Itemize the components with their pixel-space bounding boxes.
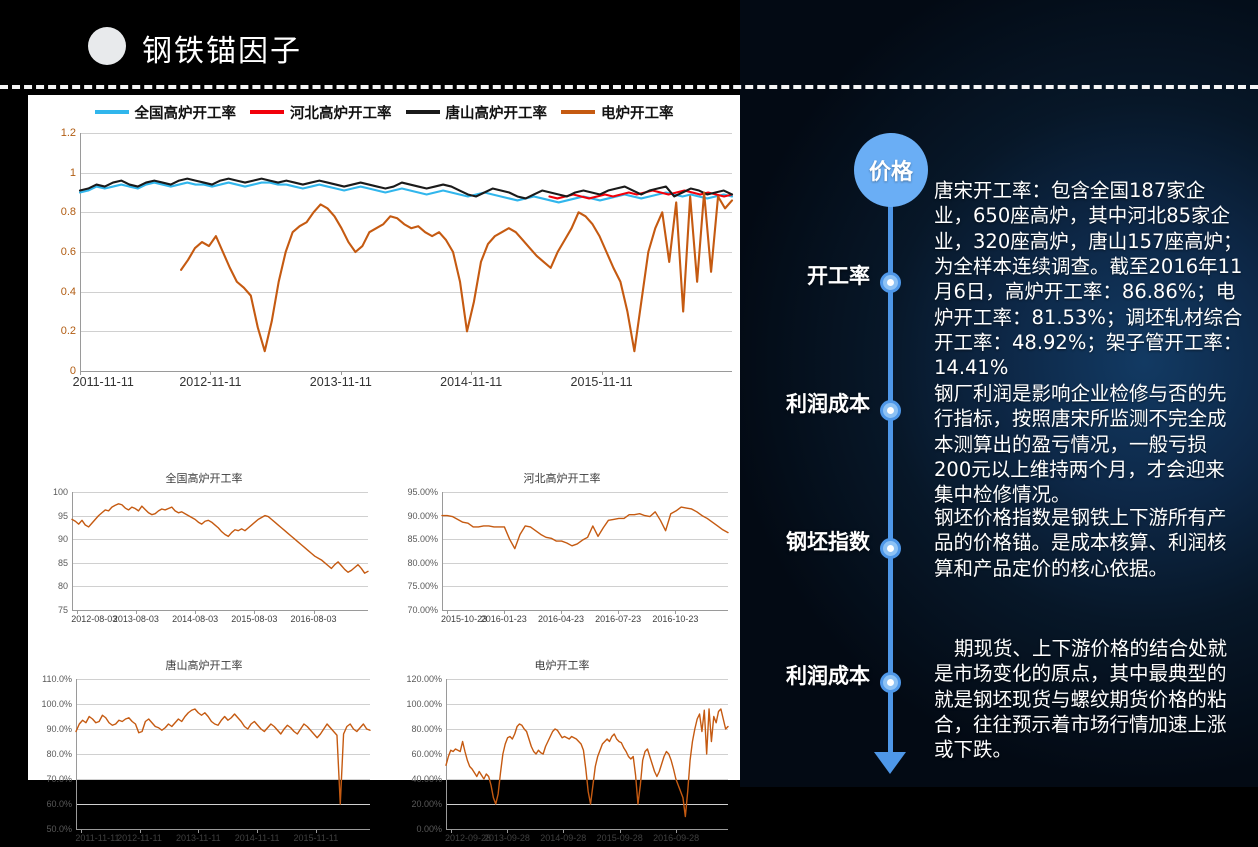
y-axis-tick-label: 0.8 [61, 206, 76, 218]
timeline-paragraph-0: 唐宋开工率：包含全国187家企业，650座高炉，其中河北85家企业，320座高炉… [934, 178, 1244, 381]
gridline [80, 371, 732, 372]
x-axis-tick-label: 2012-08-03 [71, 614, 117, 624]
x-axis-tick-label: 2016-08-03 [291, 614, 337, 624]
gridline [76, 829, 370, 830]
y-axis-tick-label: 0.00% [416, 824, 442, 834]
y-axis-tick-label: 95 [58, 511, 68, 521]
timeline-label-2: 钢坯指数 [770, 526, 870, 556]
y-axis-tick-label: 120.00% [406, 674, 442, 684]
dashed-divider [0, 85, 1258, 89]
legend-item-2: 唐山高炉开工率 [406, 102, 548, 123]
main-chart-legend: 全国高炉开工率河北高炉开工率唐山高炉开工率电炉开工率 [28, 99, 740, 125]
series-line [72, 504, 368, 573]
y-axis-tick-label: 60.0% [46, 799, 72, 809]
x-axis-tick-label: 2015-11-11 [294, 833, 339, 843]
legend-swatch-icon [250, 110, 284, 114]
slide-root: 钢铁锚因子 全国高炉开工率河北高炉开工率唐山高炉开工率电炉开工率 00.20.4… [0, 0, 1258, 787]
y-axis-tick-label: 85 [58, 558, 68, 568]
legend-item-0: 全国高炉开工率 [95, 102, 237, 123]
plot-area: 50.0%60.0%70.0%80.0%90.0%100.0%110.0%201… [76, 679, 370, 829]
y-axis-tick-label: 80.00% [407, 558, 438, 568]
x-axis-tick-label: 2011-11-11 [73, 375, 134, 389]
page-title: 钢铁锚因子 [142, 26, 302, 70]
x-axis-tick-label: 2012-11-11 [117, 833, 162, 843]
series-line [80, 183, 732, 203]
x-axis-tick-label: 2014-08-03 [172, 614, 218, 624]
y-axis-tick-label: 95.00% [407, 487, 438, 497]
x-axis-tick-label: 2015-11-11 [571, 375, 633, 389]
y-axis-tick-label: 0.6 [61, 246, 76, 258]
x-axis-tick-label: 2013-09-28 [484, 833, 530, 843]
gridline [446, 829, 728, 830]
series-layer [80, 133, 732, 371]
legend-label: 全国高炉开工率 [135, 102, 237, 123]
chart-national-blast-furnace: 全国高炉开工率 75808590951002012-08-032013-08-0… [28, 470, 380, 645]
legend-label: 唐山高炉开工率 [446, 102, 548, 123]
x-axis-tick-label: 2016-07-23 [595, 614, 641, 624]
y-axis-tick-label: 40.00% [411, 774, 442, 784]
timeline-arrow-icon [874, 752, 906, 774]
timeline-node-1[interactable] [880, 400, 901, 421]
y-axis-tick-label: 80.00% [411, 724, 442, 734]
x-axis-tick-label: 2016-01-23 [481, 614, 527, 624]
chart-eaf-operating-rate: 电炉开工率 0.00%20.00%40.00%60.00%80.00%100.0… [384, 657, 740, 847]
y-axis-tick-label: 85.00% [407, 534, 438, 544]
y-axis-tick-label: 1.2 [61, 127, 76, 139]
timeline-node-0[interactable] [880, 272, 901, 293]
x-axis-tick-label: 2013-08-03 [113, 614, 159, 624]
chart-main: 00.20.40.60.811.22011-11-112012-11-11201… [28, 123, 740, 463]
legend-swatch-icon [406, 110, 440, 114]
x-axis-tick-label: 2014-11-11 [440, 375, 502, 389]
chart-title: 唐山高炉开工率 [28, 657, 380, 673]
series-layer [442, 492, 728, 610]
series-layer [446, 679, 728, 829]
y-axis-tick-label: 80 [58, 581, 68, 591]
series-layer [76, 679, 370, 829]
x-axis-tick-label: 2014-09-28 [540, 833, 586, 843]
series-line [76, 709, 370, 804]
plot-area: 70.00%75.00%80.00%85.00%90.00%95.00%2015… [442, 492, 728, 610]
y-axis-tick-label: 90.00% [407, 511, 438, 521]
chart-title: 电炉开工率 [384, 657, 740, 673]
y-axis-tick-label: 80.0% [46, 749, 72, 759]
series-line [181, 193, 732, 352]
legend-item-3: 电炉开工率 [561, 102, 674, 123]
x-axis-tick-label: 2012-11-11 [179, 375, 241, 389]
y-axis-tick-label: 50.0% [46, 824, 72, 834]
timeline-label-3: 利润成本 [770, 660, 870, 690]
chart-hebei-blast-furnace: 河北高炉开工率 70.00%75.00%80.00%85.00%90.00%95… [384, 470, 740, 645]
chart-title: 河北高炉开工率 [384, 470, 740, 486]
y-axis-tick-label: 75.00% [407, 581, 438, 591]
y-axis-tick-label: 100.00% [406, 699, 442, 709]
x-axis-tick-label: 2011-11-11 [75, 833, 119, 843]
series-line [442, 507, 728, 549]
y-axis-tick-label: 110.0% [42, 674, 72, 684]
y-axis-tick-label: 75 [58, 605, 68, 615]
gridline [72, 610, 368, 611]
y-axis-tick-label: 1 [70, 167, 76, 179]
plot-area: 0.00%20.00%40.00%60.00%80.00%100.00%120.… [446, 679, 728, 829]
y-axis-tick-label: 0.2 [61, 325, 76, 337]
legend-label: 河北高炉开工率 [290, 102, 392, 123]
x-axis-tick-label: 2014-11-11 [235, 833, 280, 843]
legend-item-1: 河北高炉开工率 [250, 102, 392, 123]
gridline [442, 610, 728, 611]
slide-header: 钢铁锚因子 [0, 0, 1258, 86]
x-axis-tick-label: 2013-11-11 [176, 833, 221, 843]
plot-area: 00.20.40.60.811.22011-11-112012-11-11201… [80, 133, 732, 371]
x-axis-tick-label: 2015-09-28 [597, 833, 643, 843]
timeline-bubble-price[interactable]: 价格 [854, 133, 928, 207]
y-axis-tick-label: 60.00% [411, 749, 442, 759]
chart-tangshan-blast-furnace: 唐山高炉开工率 50.0%60.0%70.0%80.0%90.0%100.0%1… [28, 657, 380, 847]
charts-panel: 全国高炉开工率河北高炉开工率唐山高炉开工率电炉开工率 00.20.40.60.8… [28, 95, 740, 780]
timeline-paragraph-2: 钢坯价格指数是钢铁上下游所有产品的价格锚。是成本核算、利润核算和产品定价的核心依… [934, 505, 1244, 581]
x-axis-tick-label: 2013-11-11 [310, 375, 372, 389]
x-axis-tick-label: 2016-10-23 [652, 614, 698, 624]
legend-label: 电炉开工率 [601, 102, 674, 123]
timeline-label-1: 利润成本 [770, 388, 870, 418]
timeline-label-0: 开工率 [770, 260, 870, 290]
x-axis-tick-label: 2016-09-28 [653, 833, 699, 843]
plot-area: 75808590951002012-08-032013-08-032014-08… [72, 492, 368, 610]
y-axis-tick-label: 90 [58, 534, 68, 544]
timeline-paragraph-3: 期现货、上下游价格的结合处就是市场变化的原点，其中最典型的就是钢坯现货与螺纹期货… [934, 636, 1244, 763]
y-axis-tick-label: 90.0% [46, 724, 72, 734]
series-layer [72, 492, 368, 610]
y-axis-tick-label: 20.00% [411, 799, 442, 809]
timeline-node-3[interactable] [880, 672, 901, 693]
x-axis-tick-label: 2016-04-23 [538, 614, 584, 624]
x-axis-tick-label: 2015-08-03 [231, 614, 277, 624]
legend-swatch-icon [95, 110, 129, 114]
y-axis-tick-label: 70.0% [46, 774, 72, 784]
legend-swatch-icon [561, 110, 595, 114]
series-line [446, 709, 728, 817]
y-axis-tick-label: 70.00% [407, 605, 438, 615]
y-axis-tick-label: 100.0% [41, 699, 72, 709]
chart-title: 全国高炉开工率 [28, 470, 380, 486]
y-axis-tick-label: 100 [53, 487, 68, 497]
circle-bullet-icon [88, 27, 126, 65]
timeline-node-2[interactable] [880, 538, 901, 559]
y-axis-tick-label: 0.4 [61, 286, 76, 298]
timeline-paragraph-1: 钢厂利润是影响企业检修与否的先行指标，按照唐宋所监测不完全成本测算出的盈亏情况，… [934, 381, 1244, 508]
